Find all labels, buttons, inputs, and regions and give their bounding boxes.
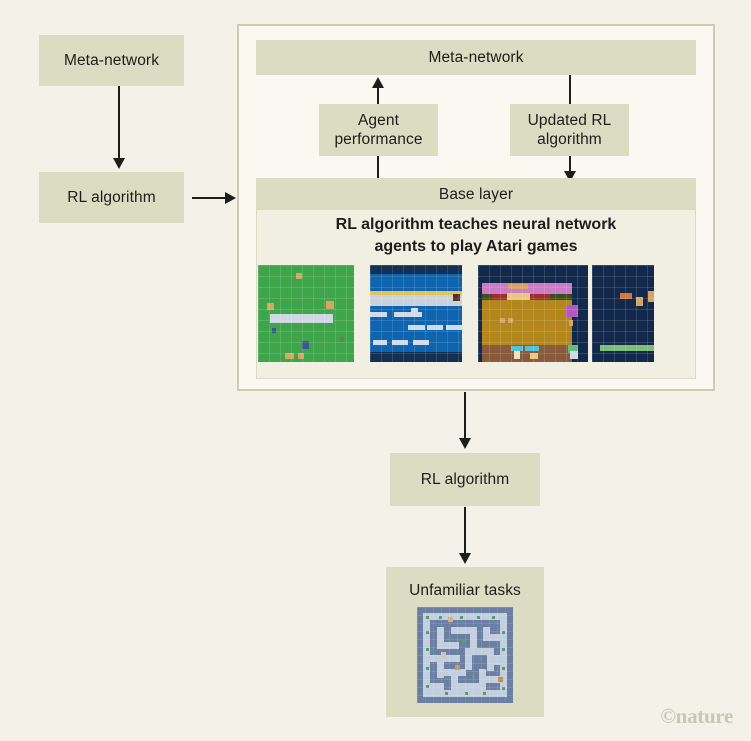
arrow-rl-to-panel [192,191,236,205]
atari-game-tile-1 [258,265,354,362]
meta-network-label-panel: Meta-network [428,48,523,67]
updated-rl-label-line1: Updated RL [528,111,612,130]
meta-network-label-left: Meta-network [64,51,159,70]
rl-algorithm-label-left: RL algorithm [67,188,156,207]
base-layer-box: Base layer [256,178,696,211]
arrow-agent-performance-up [371,75,385,104]
updated-rl-label-line2: algorithm [537,130,602,149]
rl-algorithm-box-left: RL algorithm [39,172,184,223]
rl-algorithm-box-output: RL algorithm [390,453,540,506]
maze-task-image [417,607,513,703]
agent-performance-label-line1: Agent [358,111,399,130]
atari-game-tile-4 [592,265,654,362]
rl-algorithm-label-output: RL algorithm [421,470,510,489]
meta-network-box-panel: Meta-network [256,40,696,75]
base-layer-label: Base layer [439,185,513,204]
base-layer-caption-line2: agents to play Atari games [256,236,696,258]
meta-network-box-left: Meta-network [39,35,184,86]
atari-game-tile-2 [370,265,462,362]
base-layer-caption: RL algorithm teaches neural network agen… [256,214,696,257]
agent-performance-box: Agent performance [319,104,438,156]
base-layer-caption-line1: RL algorithm teaches neural network [256,214,696,236]
updated-rl-algorithm-box: Updated RL algorithm [510,104,629,156]
arrow-meta-to-rl [112,86,126,172]
unfamiliar-tasks-label: Unfamiliar tasks [409,581,521,600]
nature-logo: ©nature [660,704,733,729]
agent-performance-label-line2: performance [334,130,422,149]
atari-game-tile-3 [478,265,588,362]
connector-meta-to-updated-rl [563,75,577,105]
arrow-rl-to-unfamiliar-tasks [458,507,472,569]
arrow-panel-to-rl-output [458,392,472,454]
figure-canvas: Meta-network RL algorithm Meta-network A… [0,0,751,741]
